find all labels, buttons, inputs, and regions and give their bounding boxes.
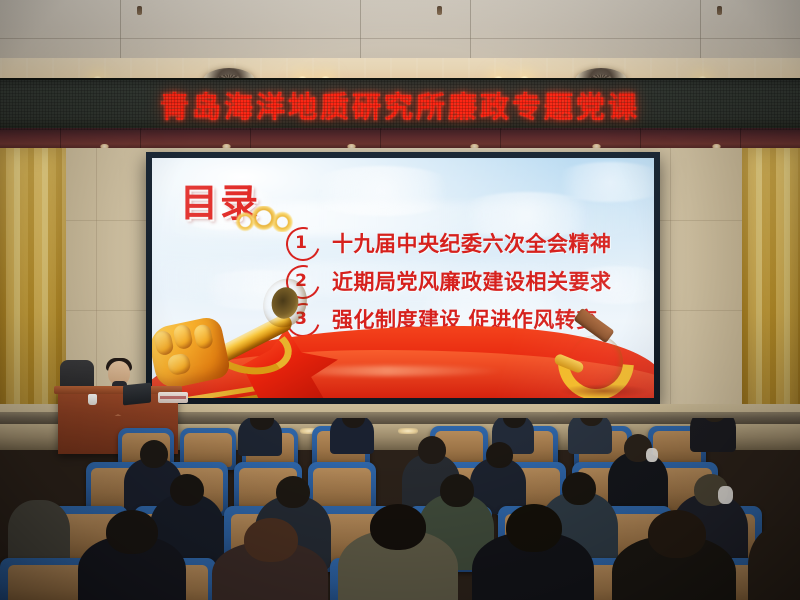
list-item: 2 近期局党风廉政建设相关要求 — [284, 262, 612, 300]
audience-head — [370, 504, 426, 550]
list-item: 1 十九届中央纪委六次全会精神 — [284, 224, 612, 262]
ceiling-sprinkler-icon — [437, 6, 442, 15]
audience-head — [170, 474, 204, 506]
contents-item-label: 近期局党风廉政建设相关要求 — [332, 266, 612, 296]
contents-item-label: 十九届中央纪委六次全会精神 — [332, 228, 612, 258]
audience-member — [8, 500, 70, 566]
audience-head — [440, 474, 474, 507]
audience-head — [562, 472, 596, 505]
audience-head — [418, 436, 446, 464]
stage-curtain-left — [0, 148, 66, 448]
number-badge-icon: 1 — [284, 226, 320, 260]
face-mask — [646, 448, 658, 462]
audience-head — [506, 504, 562, 552]
gold-trumpet-fist-icon — [152, 264, 324, 398]
name-plate — [158, 392, 188, 403]
seated-audience — [0, 418, 800, 600]
audience-member — [748, 526, 800, 600]
laptop — [123, 383, 151, 406]
audience-head — [106, 510, 158, 554]
audience-head — [140, 440, 168, 468]
audience-head — [486, 442, 513, 468]
ceiling-sprinkler-icon — [137, 6, 142, 15]
led-banner: 青岛海洋地质研究所廉政专题党课 — [0, 78, 800, 132]
audience-member — [690, 418, 736, 452]
ceiling-sprinkler-icon — [717, 6, 722, 15]
audience-head — [276, 476, 310, 508]
led-banner-text: 青岛海洋地质研究所廉政专题党课 — [0, 84, 800, 126]
presentation-screen-frame: 目录 1 十九届中央纪委六次全会精神 2 近期局党风廉政建设相关要求 — [146, 152, 660, 404]
audience-head — [648, 510, 706, 558]
presentation-slide: 目录 1 十九届中央纪委六次全会精神 2 近期局党风廉政建设相关要求 — [152, 158, 654, 398]
audience-head — [244, 518, 298, 562]
stage-curtain-right — [742, 148, 800, 448]
hammer-and-sickle-icon — [552, 312, 638, 392]
ceiling-panels — [0, 0, 800, 62]
stage-valance — [0, 128, 800, 150]
auditorium-scene: 青岛海洋地质研究所廉政专题党课 — [0, 0, 800, 600]
face-mask — [718, 486, 733, 504]
water-cup — [88, 394, 97, 405]
